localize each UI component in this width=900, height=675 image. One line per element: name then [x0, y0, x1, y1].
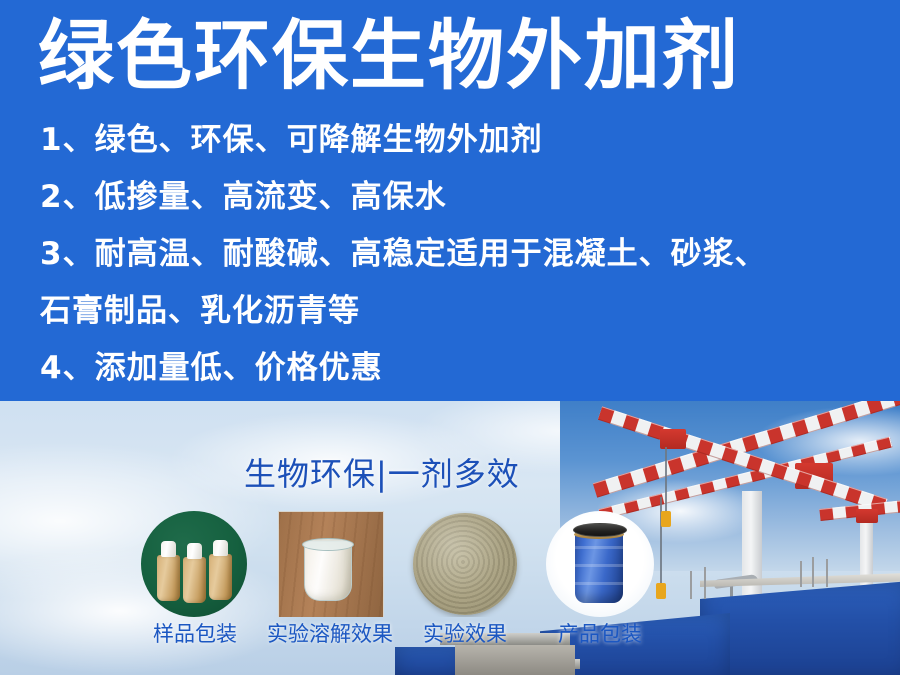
rebar-4 — [690, 571, 692, 599]
crane-hook-secondary — [661, 511, 671, 527]
drum-rib-3 — [575, 582, 623, 585]
feature-line-3: 3、耐高温、耐酸碱、高稳定适用于混凝土、砂浆、 — [40, 226, 880, 283]
sample-bottle-2 — [183, 557, 206, 603]
rebar-2 — [812, 557, 814, 587]
rebar-1 — [800, 561, 802, 587]
page-title: 绿色环保生物外加剂 — [38, 8, 868, 104]
drum-rib-2 — [575, 564, 623, 567]
drum-lid — [573, 523, 627, 537]
mortar-sample-photo — [407, 511, 523, 617]
beaker-rim — [302, 538, 354, 551]
crane-cable-secondary — [665, 447, 667, 513]
blue-drum-photo — [542, 511, 658, 617]
feature-line-3-continued: 石膏制品、乳化沥青等 — [40, 283, 880, 340]
sample-bottle-1 — [157, 555, 180, 601]
feature-line-2: 2、低掺量、高流变、高保水 — [40, 169, 880, 226]
feature-list: 1、绿色、环保、可降解生物外加剂 2、低掺量、高流变、高保水 3、耐高温、耐酸碱… — [40, 112, 880, 397]
product-poster: 绿色环保生物外加剂 1、绿色、环保、可降解生物外加剂 2、低掺量、高流变、高保水… — [0, 0, 900, 675]
building-scaffold-left — [455, 645, 575, 675]
product-item-test-result[interactable]: 实验效果 — [407, 511, 523, 617]
crane-block-far-right — [856, 509, 878, 523]
blue-plastic-drum — [575, 528, 623, 603]
mortar-circle-sample — [413, 513, 517, 615]
feature-line-1: 1、绿色、环保、可降解生物外加剂 — [40, 112, 880, 169]
product-item-product-packaging[interactable]: 产品包装 — [542, 511, 658, 617]
product-caption: 样品包装 — [125, 621, 265, 647]
product-item-sample-packaging[interactable]: 样品包装 — [137, 511, 253, 617]
feature-line-4: 4、添加量低、价格优惠 — [40, 340, 880, 397]
bottle-cap-1 — [161, 541, 176, 557]
crane-trolley-secondary — [660, 429, 686, 449]
rebar-5 — [704, 567, 706, 599]
drum-rib-1 — [575, 546, 623, 549]
product-caption: 产品包装 — [530, 621, 670, 647]
blue-info-panel: 绿色环保生物外加剂 1、绿色、环保、可降解生物外加剂 2、低掺量、高流变、高保水… — [0, 0, 900, 401]
dissolution-beaker-photo — [272, 511, 388, 617]
product-caption: 实验效果 — [395, 621, 535, 647]
sample-bottle-3 — [209, 554, 232, 600]
sample-bottles-photo — [137, 511, 253, 617]
product-caption: 实验溶解效果 — [260, 621, 400, 647]
rebar-3 — [826, 559, 828, 587]
bottle-cap-2 — [187, 543, 202, 559]
bottle-cap-3 — [213, 540, 228, 556]
product-item-dissolution-test[interactable]: 实验溶解效果 — [272, 511, 388, 617]
photo-subtitle: 生物环保|一剂多效 — [244, 455, 520, 493]
crane-mast-main — [742, 491, 762, 611]
